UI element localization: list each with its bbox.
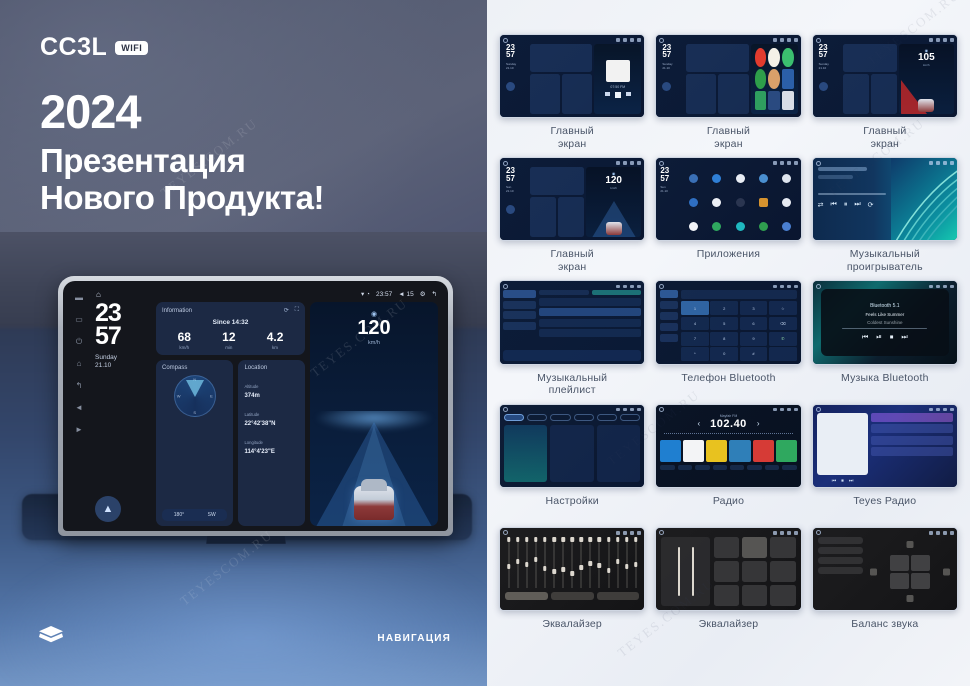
stat-item: 68 km/h (178, 330, 191, 350)
next-station-icon[interactable]: › (757, 419, 760, 428)
information-card[interactable]: Information ⟳ ⛶ Since 14:32 68 (156, 302, 305, 355)
clock-weekday: Sunday (95, 354, 151, 362)
screen-caption: Главныйэкран (707, 125, 750, 151)
screen-caption: Музыка Bluetooth (841, 372, 929, 398)
screen-caption: Эквалайзер (542, 618, 602, 644)
balance-right-icon (943, 568, 950, 575)
stop-icon[interactable]: ⏹ (841, 478, 844, 484)
compass-heading: 180° (174, 512, 184, 518)
screen-caption: Настройки (546, 495, 599, 521)
screen-caption: Музыкальныйпроигрыватель (847, 248, 923, 274)
screen-thumbnail-equalizer-presets[interactable] (655, 527, 801, 611)
screen-caption: Радио (713, 495, 744, 521)
head-unit-screen[interactable]: ⌂ ▾ ◔ 23:57 ◄ 15 ⚙ ↰ 23 57 (90, 286, 443, 531)
balance-left-icon (870, 568, 877, 575)
status-bar: ⌂ ▾ ◔ 23:57 ◄ 15 ⚙ ↰ (90, 286, 443, 302)
head-unit-hardware-buttons[interactable]: ▬ ▭ ⏻ ⌂ ↰ ◄ ► (68, 286, 90, 531)
list-item[interactable]: Эквалайзер (499, 527, 645, 644)
screen-thumbnail-home-apps[interactable]: 2357Sunday21.10 (655, 34, 801, 118)
list-item[interactable]: 123☆ 456⌫ 789✆ *0# Телефон Bluetooth (655, 280, 801, 397)
power-icon[interactable]: ⏻ (76, 338, 82, 346)
compass-card[interactable]: Compass N S E W 180° SW (156, 360, 233, 526)
refresh-icon[interactable]: ⟳ (284, 307, 289, 314)
screen-caption: Эквалайзер (699, 618, 759, 644)
screen-thumbnail-apps[interactable]: 2357Sun21.10 (655, 157, 801, 241)
bluetooth-badge: Bluetooth 5.1 (870, 303, 899, 309)
list-item[interactable]: 2357Sunday21.10 ◉ 105 km/h Главныйэкран (812, 34, 958, 151)
list-item[interactable]: 2357Sunday21.10 07:50 FM Главныйэкран (499, 34, 645, 151)
latitude-value: 22°42'38"N (244, 421, 299, 427)
list-item[interactable]: 2357Sun21.10 ◉ 120 km/h Главныйэкран (499, 157, 645, 274)
back-hw-icon[interactable]: ↰ (76, 382, 83, 390)
nav-label: НАВИГАЦИЯ (377, 633, 451, 644)
stat-item: 12 min (222, 330, 235, 350)
headline-line1: Презентация (40, 143, 324, 180)
call-icon: ✆ (769, 332, 797, 346)
speed-value: 105 (899, 53, 954, 63)
back-icon[interactable]: ↰ (432, 290, 437, 298)
headline-line2: Нового Продукта! (40, 180, 324, 217)
screen-thumbnail-home-speed-105[interactable]: 2357Sunday21.10 ◉ 105 km/h (812, 34, 958, 118)
speed-value: 120 (310, 318, 438, 338)
prev-icon[interactable]: ⏮ (862, 334, 868, 342)
longitude-value: 114°4'23"E (244, 449, 299, 455)
navigation-button[interactable]: ▲ (95, 496, 121, 522)
screen-caption: Музыкальныйплейлист (537, 372, 607, 398)
status-time: 23:57 (376, 291, 392, 298)
screen-thumbnail-bt-phone[interactable]: 123☆ 456⌫ 789✆ *0# (655, 280, 801, 364)
list-item[interactable]: Баланс звука (812, 527, 958, 644)
since-label: Since 14:32 (162, 319, 299, 326)
speed-unit: km/h (310, 340, 438, 346)
equalizer-sliders[interactable] (505, 537, 639, 588)
screen-thumbnail-equalizer-bands[interactable] (499, 527, 645, 611)
volume-up-icon[interactable]: ► (75, 426, 83, 434)
screen-thumbnail-radio[interactable]: Mayfair FM ‹ 102.40 › (655, 404, 801, 488)
prev-icon[interactable]: ⏮ (831, 201, 837, 209)
speed-value: 120 (586, 176, 641, 186)
list-item[interactable]: Bluetooth 5.1 Feels Like Summer Coldest … (812, 280, 958, 397)
backspace-icon: ⌫ (769, 317, 797, 331)
screens-grid: 2357Sunday21.10 07:50 FM Главныйэкран (499, 34, 958, 644)
next-icon[interactable]: ⏭ (854, 201, 860, 209)
screen-thumbnail-sound-balance[interactable] (812, 527, 958, 611)
bt-track-title: Feels Like Summer (865, 312, 904, 317)
speed-widget[interactable]: ◉ 120 km/h (310, 302, 438, 526)
screen-thumbnail-teyes-radio[interactable]: ⏮⏹⏭ (812, 404, 958, 488)
repeat-icon[interactable]: ⟳ (868, 201, 874, 209)
list-item[interactable]: ⏮⏹⏭ Teyes Радио (812, 404, 958, 521)
gear-icon[interactable]: ⚙ (420, 290, 426, 298)
list-item[interactable]: Настройки (499, 404, 645, 521)
product-brand: CC3L WIFI (40, 33, 148, 62)
altitude-value: 374m (244, 393, 299, 399)
balance-down-icon (907, 595, 914, 602)
map-icon[interactable]: ▭ (75, 316, 83, 324)
information-title: Information (162, 308, 192, 314)
list-item[interactable]: 2357Sunday21.10 Главныйэкран (655, 34, 801, 151)
screen-thumbnail-music-playlist[interactable] (499, 280, 645, 364)
pause-icon[interactable]: ⏸ (844, 201, 848, 209)
volume-down-icon[interactable]: ◄ (75, 404, 83, 412)
head-unit-device: ▬ ▭ ⏻ ⌂ ↰ ◄ ► ⌂ ▾ ◔ 23:57 ◄ 15 (58, 276, 453, 536)
longitude-label: Longitude (244, 440, 262, 445)
home-icon[interactable]: ⌂ (96, 290, 101, 299)
list-item[interactable]: Эквалайзер (655, 527, 801, 644)
road-visualization (310, 411, 438, 526)
screen-thumbnail-settings[interactable] (499, 404, 645, 488)
screens-gallery-panel: 2357Sunday21.10 07:50 FM Главныйэкран (487, 0, 970, 686)
list-item[interactable]: ⇄⏮⏸⏭⟳ М (812, 157, 958, 274)
expand-icon[interactable]: ⛶ (295, 307, 299, 314)
compass-direction: SW (208, 512, 216, 518)
screen-caption: Баланс звука (851, 618, 918, 644)
dialpad[interactable]: 123☆ 456⌫ 789✆ *0# (681, 301, 797, 360)
page-title: 2024 Презентация Нового Продукта! (40, 88, 324, 217)
screen-caption: Teyes Радио (853, 495, 916, 521)
compass-title: Compass (162, 365, 187, 371)
shuffle-icon[interactable]: ⇄ (818, 201, 824, 209)
presentation-page: ▬ ▭ ⏻ ⌂ ↰ ◄ ► ⌂ ▾ ◔ 23:57 ◄ 15 (0, 0, 970, 686)
balance-pad[interactable] (868, 537, 952, 606)
home-hw-icon[interactable]: ⌂ (77, 360, 82, 368)
list-item[interactable]: 2357Sun21.10 Приложения (655, 157, 801, 274)
list-item[interactable]: Mayfair FM ‹ 102.40 › Ради (655, 404, 801, 521)
volume-indicator: ◄ 15 (398, 291, 413, 298)
headline-year: 2024 (40, 88, 324, 135)
screen-caption: Главныйэкран (551, 125, 594, 151)
layers-icon (38, 625, 64, 650)
altitude-label: Altitude (244, 384, 258, 389)
wifi-icon: ▾ ◔ (361, 290, 370, 298)
screen-caption: Телефон Bluetooth (681, 372, 775, 398)
clock-minutes: 57 (95, 325, 151, 348)
clock-widget: 23 57 Sunday 21.10 ▲ (95, 302, 151, 526)
radio-frequency: 102.40 (710, 418, 747, 430)
play-pause-icon[interactable]: ⏯ (876, 334, 882, 342)
latitude-label: Latitude (244, 412, 259, 417)
prev-station-icon[interactable]: ‹ (697, 419, 700, 428)
screen-thumbnail-music-player[interactable]: ⇄⏮⏸⏭⟳ (812, 157, 958, 241)
stat-item: 4.2 km (267, 330, 284, 350)
screen-thumbnail-home-media[interactable]: 2357Sunday21.10 07:50 FM (499, 34, 645, 118)
screen-thumbnail-bt-music[interactable]: Bluetooth 5.1 Feels Like Summer Coldest … (812, 280, 958, 364)
balance-up-icon (907, 541, 914, 548)
left-hero-panel: ▬ ▭ ⏻ ⌂ ↰ ◄ ► ⌂ ▾ ◔ 23:57 ◄ 15 (0, 0, 487, 686)
location-title: Location (244, 365, 267, 371)
mic-icon[interactable]: ▬ (75, 294, 83, 302)
screen-caption: Главныйэкран (863, 125, 906, 151)
progress-bar[interactable] (842, 328, 927, 330)
clock-date: 21.10 (95, 362, 151, 370)
bt-track-artist: Coldest Sunshine (867, 320, 902, 325)
screen-caption: Главныйэкран (551, 248, 594, 274)
next-icon[interactable]: ⏭ (849, 478, 854, 484)
brand-name: CC3L (40, 33, 107, 62)
next-icon[interactable]: ⏭ (901, 334, 907, 342)
screen-thumbnail-home-speed-120[interactable]: 2357Sun21.10 ◉ 120 km/h (499, 157, 645, 241)
screen-caption: Приложения (697, 248, 760, 274)
compass-dial: N S E W (174, 375, 216, 417)
location-card[interactable]: Location Altitude 374m Latitude 22°42'38… (238, 360, 305, 526)
list-item[interactable]: Музыкальныйплейлист (499, 280, 645, 397)
brand-badge: WIFI (115, 41, 148, 55)
favorite-icon: ☆ (769, 301, 797, 315)
stop-icon[interactable]: ⏹ (890, 334, 894, 342)
prev-icon[interactable]: ⏮ (832, 478, 837, 484)
